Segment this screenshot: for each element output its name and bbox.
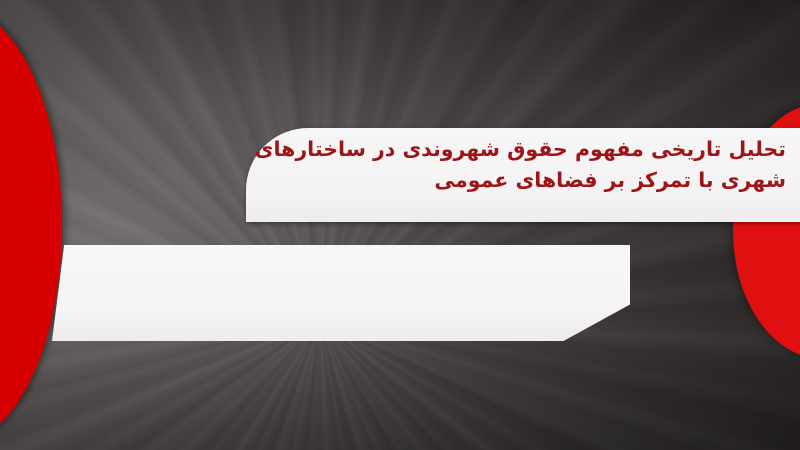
title-placeholder-box[interactable]: تحلیل تاریخی مفهوم حقوق شهروندی در ساختا…: [246, 128, 800, 222]
title-line-2: شهری با تمرکز بر فضاهای عمومی: [434, 165, 786, 196]
subtitle-placeholder-box[interactable]: [52, 245, 630, 341]
title-slide: تحلیل تاریخی مفهوم حقوق شهروندی در ساختا…: [0, 0, 800, 450]
subtitle-text: [52, 245, 630, 265]
title-line-1: تحلیل تاریخی مفهوم حقوق شهروندی در ساختا…: [255, 134, 786, 165]
background-vignette: [0, 0, 800, 450]
